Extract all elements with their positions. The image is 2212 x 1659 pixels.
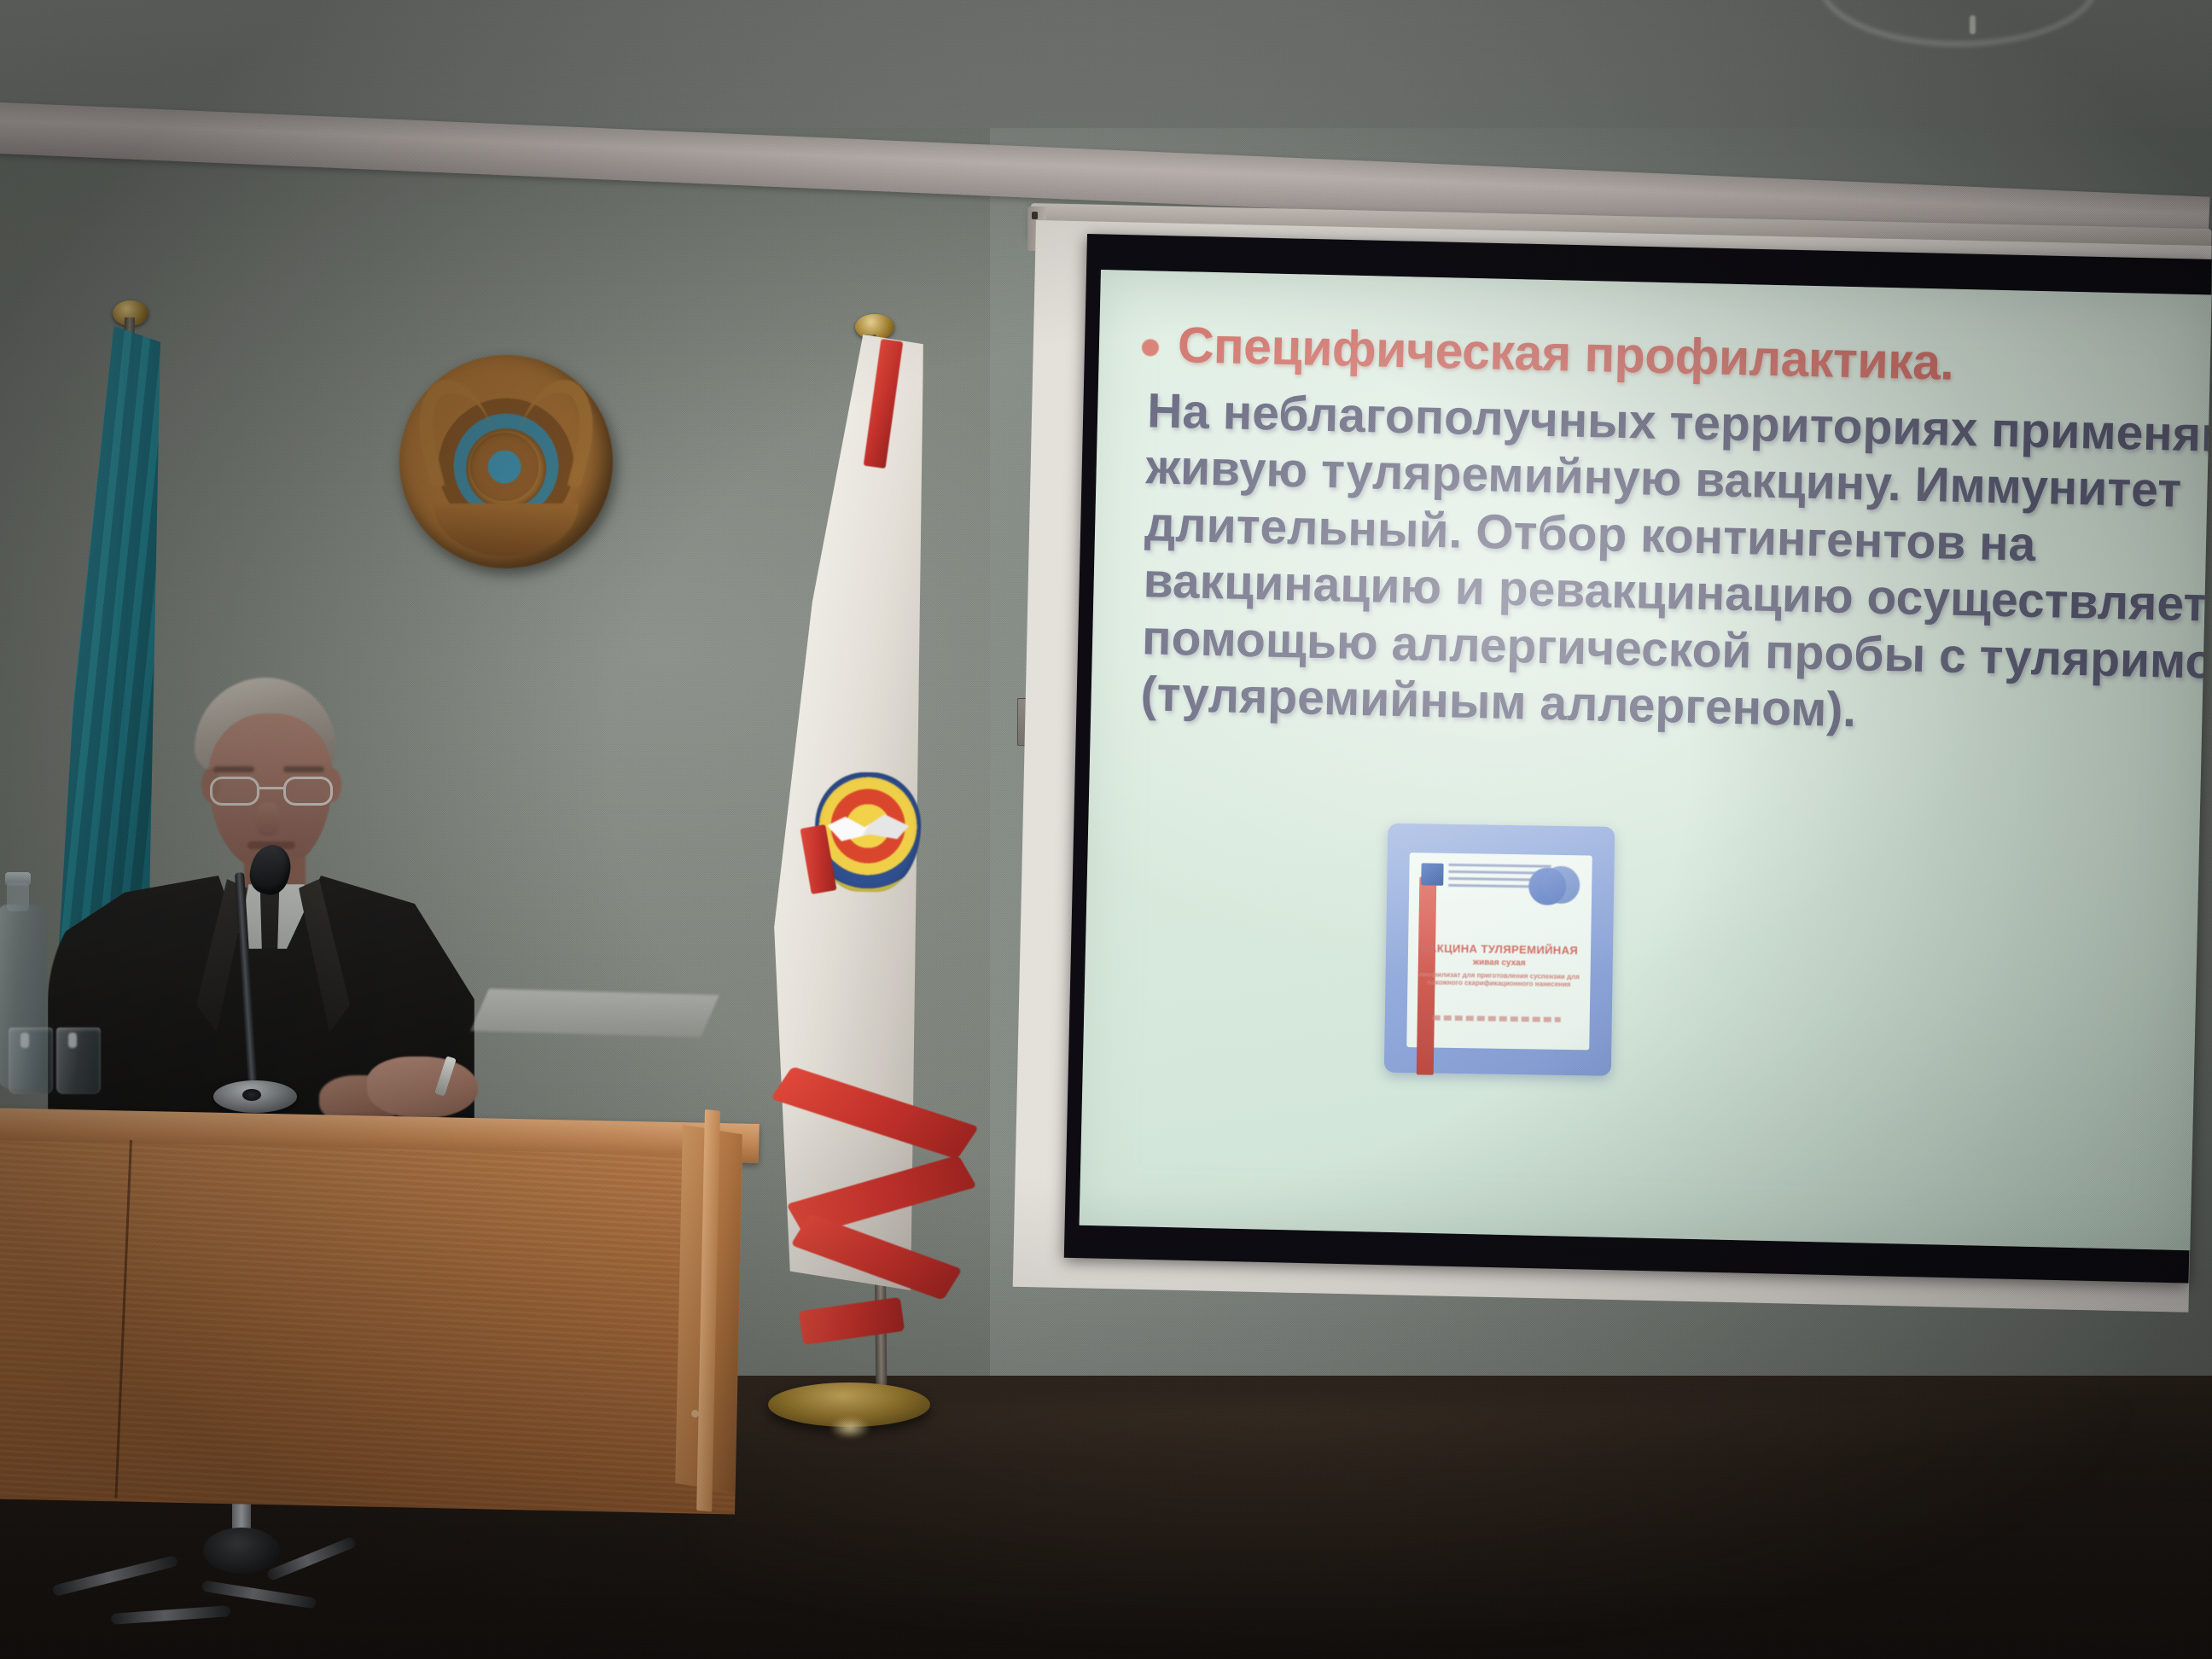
- manufacturer-logo-icon: [1421, 863, 1443, 885]
- eyeglass-bridge: [259, 787, 283, 789]
- vaccine-description: лиофилизат для приготовления суспензии д…: [1412, 970, 1585, 988]
- vaccine-form: живая сухая: [1417, 957, 1582, 969]
- desk-front-panel: [0, 1140, 742, 1515]
- floor-reflection: [700, 1400, 2151, 1656]
- glass-highlight: [68, 1033, 77, 1048]
- projected-slide: Специфическая профилактика. На неблагопо…: [1080, 270, 2212, 1250]
- slide-title: Специфическая профилактика.: [1177, 316, 1954, 392]
- presenter-brow-left: [213, 766, 254, 772]
- vaccine-label-footer: [1433, 1016, 1561, 1022]
- emblem-shanyrak-core: [466, 428, 546, 509]
- kazakhstan-coat-of-arms-icon: [399, 355, 613, 568]
- slide-body: На неблагополучных территориях применяют…: [1115, 383, 2212, 752]
- drinking-glass[interactable]: [56, 1027, 101, 1094]
- vaccine-name: ВАКЦИНА ТУЛЯРЕМИЙНАЯ: [1417, 941, 1582, 957]
- emblem-base: [434, 504, 579, 556]
- ceiling-light-glint: [1970, 15, 1976, 34]
- chair-base-hub: [203, 1528, 280, 1574]
- glass-highlight: [20, 1033, 29, 1048]
- presenter-brow-right: [283, 766, 324, 772]
- banner-crest-bird-icon: [827, 804, 910, 857]
- vaccine-package-photo: ВАКЦИНА ТУЛЯРЕМИЙНАЯ живая сухая лиофили…: [1384, 824, 1615, 1076]
- eyeglass-lens-right: [283, 777, 333, 806]
- eyeglass-lens-left: [210, 777, 259, 806]
- paper-sheet[interactable]: [470, 989, 719, 1038]
- eyeglasses-icon: [210, 777, 335, 806]
- presenter-nose: [256, 802, 280, 836]
- vaccine-vial-circles-icon: [1528, 864, 1582, 908]
- drinking-glass[interactable]: [9, 1027, 53, 1094]
- microphone-base-button[interactable]: [242, 1089, 261, 1101]
- vaccine-box-label: ВАКЦИНА ТУЛЯРЕМИЙНАЯ живая сухая лиофили…: [1406, 853, 1592, 1050]
- presenter-hand-right: [367, 1057, 478, 1118]
- desk-screw: [691, 1410, 699, 1417]
- lecture-hall-photo: Специфическая профилактика. На неблагопо…: [0, 0, 2212, 1659]
- desk-wood-grain: [0, 1140, 742, 1515]
- bullet-dot-icon: [1142, 339, 1159, 356]
- flag-stand-highlight: [829, 1417, 870, 1439]
